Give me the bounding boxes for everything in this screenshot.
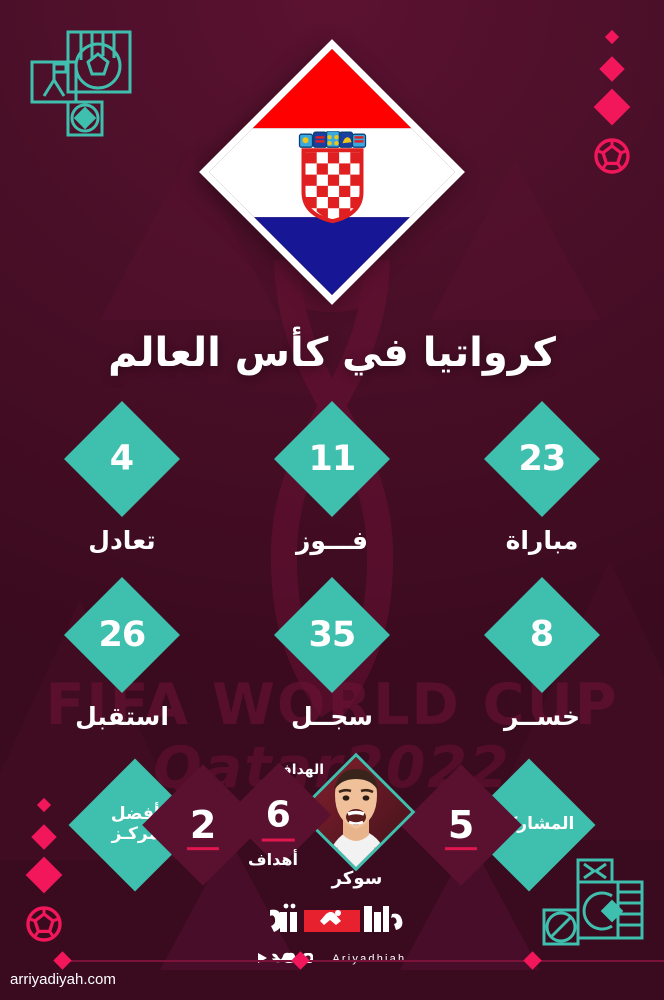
stat-label: تعادل bbox=[22, 526, 222, 555]
bg-facet bbox=[430, 160, 600, 320]
stat-value: 11 bbox=[309, 442, 356, 477]
stats-row-2: 8 خســر 35 سجــل 26 استقبل bbox=[0, 594, 664, 744]
stat-diamond: 11 bbox=[274, 401, 390, 517]
stat-draws: 4 تعادل bbox=[22, 418, 222, 555]
stat-label: خســر bbox=[442, 702, 642, 731]
player-name-label: سوكر bbox=[292, 868, 422, 889]
stat-matches: 23 مباراة bbox=[442, 418, 642, 555]
stat-label: سجــل bbox=[232, 702, 432, 731]
stat-losses: 8 خســر bbox=[442, 594, 642, 731]
stat-label: فـــوز bbox=[232, 526, 432, 555]
stat-label: مباراة bbox=[442, 526, 642, 555]
stat-value: 8 bbox=[530, 618, 553, 653]
flag-band-red bbox=[200, 40, 465, 128]
stat-diamond: 8 bbox=[484, 577, 600, 693]
arriyadhiah-logo-mark bbox=[256, 900, 408, 948]
best-position-value: 2 bbox=[190, 806, 216, 844]
stat-value: 23 bbox=[519, 442, 566, 477]
stats-row-1: 23 مباراة 11 فـــوز 4 تعادل bbox=[0, 418, 664, 568]
logo-icon bbox=[256, 900, 408, 944]
handle-text: Ariyadhiah bbox=[332, 953, 406, 965]
infographic-poster: FIFA WORLD CUP Qatar2022 bbox=[0, 0, 664, 1000]
stat-goals-scored: 35 سجــل bbox=[232, 594, 432, 731]
stat-wins: 11 فـــوز bbox=[232, 418, 432, 555]
top-right-deco bbox=[594, 28, 640, 168]
site-url[interactable]: arriyadiyah.com bbox=[10, 971, 116, 988]
top-left-ornament bbox=[24, 22, 142, 137]
stat-value: 4 bbox=[110, 442, 133, 477]
stat-goals-conceded: 26 استقبل bbox=[22, 594, 222, 731]
participations-value: 5 bbox=[448, 806, 474, 844]
stat-value: 26 bbox=[99, 618, 146, 653]
football-icon bbox=[594, 138, 630, 174]
stat-label: استقبل bbox=[22, 702, 222, 731]
footer-rule bbox=[56, 960, 664, 962]
brand-logo[interactable]: Ariyadhiah bbox=[0, 900, 664, 965]
croatia-coat-of-arms-icon bbox=[295, 131, 369, 223]
stat-diamond: 4 bbox=[64, 401, 180, 517]
best-position-value-diamond: 2 bbox=[142, 764, 264, 886]
page-title: كرواتيا في كأس العالم bbox=[0, 330, 664, 376]
stat-value: 35 bbox=[309, 618, 356, 653]
stat-best-position: أفضل مركـز 2 bbox=[88, 772, 268, 892]
goals-value: 6 bbox=[266, 795, 291, 836]
stats-row-3: المشاركات 5 الهداف bbox=[0, 772, 664, 892]
stat-diamond: 35 bbox=[274, 577, 390, 693]
social-handle-row: Ariyadhiah bbox=[0, 952, 664, 965]
stat-diamond: 23 bbox=[484, 401, 600, 517]
stat-diamond: 26 bbox=[64, 577, 180, 693]
